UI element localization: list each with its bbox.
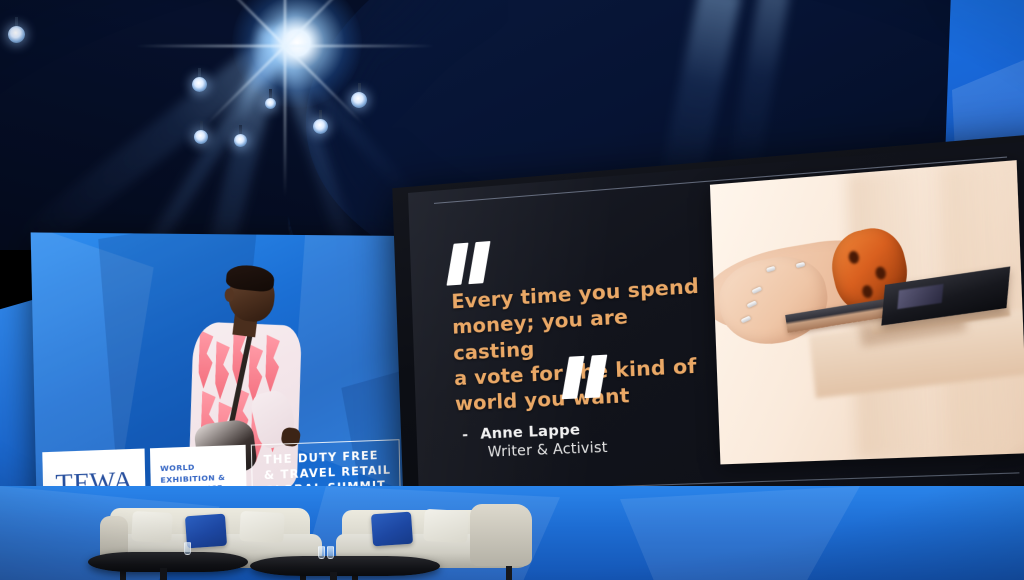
spotlight-fixture-1 [8,26,25,43]
coffee-table-leg [330,572,337,580]
quote-slide: Every time you spend money; you are cast… [408,140,1024,503]
coffee-table-right [250,556,440,576]
attribution-name: Anne Lappe [480,422,581,443]
spotlight-fixture-3 [194,130,208,144]
spotlight-fixture-4 [234,134,247,147]
left-led-screen: TFWA WORLD EXHIBITION & CONFERENCE THE D… [31,232,407,529]
water-glass [318,546,325,559]
flare-spike-diagonal-icon [283,43,287,47]
right-led-screen-bezel: Every time you spend money; you are cast… [392,132,1024,510]
quotation-mark-close-icon [565,355,605,399]
coffee-table-left [88,552,248,572]
conference-stage-scene: TFWA WORLD EXHIBITION & CONFERENCE THE D… [0,0,1024,580]
spotlight-fixture-7 [265,98,276,109]
coffee-table-leg [160,568,167,580]
attribution: - Anne Lappe Writer & Activist [462,421,608,462]
speaker-ear [225,288,235,302]
payment-photo [710,160,1024,464]
spotlight-fixture-6 [351,92,367,108]
attribution-dash: - [462,427,469,443]
water-glass [327,546,334,559]
spotlight-fixture-2 [192,77,207,92]
terminal-screen [898,284,944,309]
quote-close-wrap [565,355,605,403]
water-glass [184,542,191,555]
spotlight-fixture-5 [313,119,328,134]
